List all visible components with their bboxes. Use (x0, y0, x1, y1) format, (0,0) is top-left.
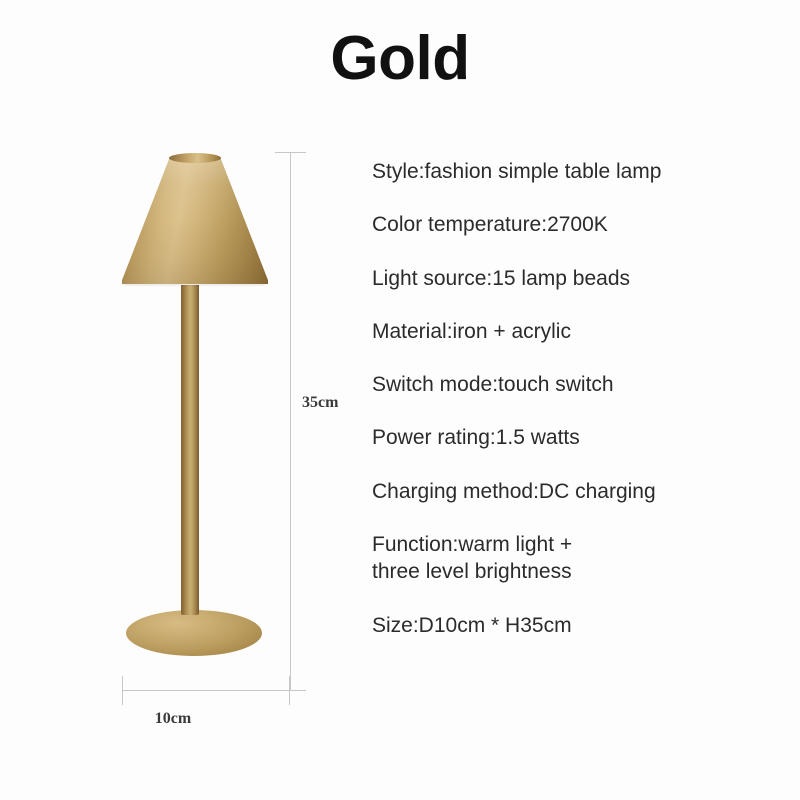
width-dimension-tick-right (289, 676, 290, 705)
spec-item: Size:D10cm * H35cm (372, 612, 772, 639)
product-spec-page: Gold 35cm 10cm Style:fashion simple tabl… (0, 0, 800, 800)
height-dimension-label: 35cm (299, 392, 341, 414)
height-dimension-line (290, 152, 291, 690)
specification-list: Style:fashion simple table lampColor tem… (372, 158, 772, 639)
spec-item: Power rating:1.5 watts (372, 424, 772, 451)
lamp-shade-top-rim (169, 153, 221, 163)
lamp-base (126, 610, 262, 656)
lamp-shade (122, 157, 268, 284)
product-image-lamp (70, 140, 310, 700)
spec-item: Charging method:DC charging (372, 478, 772, 505)
spec-item: Color temperature:2700K (372, 211, 772, 238)
spec-item: Style:fashion simple table lamp (372, 158, 772, 185)
spec-item: Switch mode:touch switch (372, 371, 772, 398)
width-dimension-line (122, 690, 290, 691)
spec-item: Light source:15 lamp beads (372, 265, 772, 292)
width-dimension-label: 10cm (155, 710, 191, 728)
page-title: Gold (0, 28, 800, 90)
spec-item: Material:iron + acrylic (372, 318, 772, 345)
lamp-stem (181, 283, 199, 615)
spec-item: Function:warm light + three level bright… (372, 531, 772, 586)
